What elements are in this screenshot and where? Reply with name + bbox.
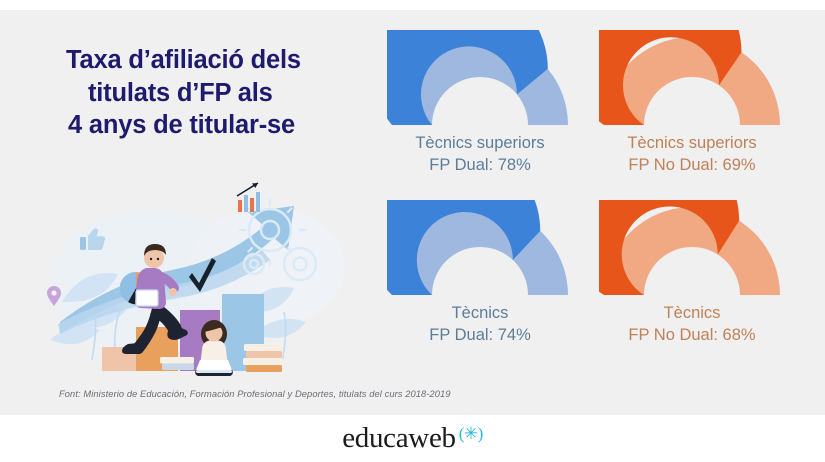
logo-wordmark: educaweb	[342, 422, 456, 455]
footer: educaweb (✳)	[0, 415, 825, 462]
gauge-label-1-line2: FP No Dual: 69%	[592, 155, 792, 177]
gauge-tecnics-superiors-fp-dual: Tècnics superiors FP Dual: 78%	[380, 30, 580, 205]
source-note: Font: Ministerio de Educación, Formación…	[59, 389, 451, 399]
title-line-1: Taxa d’afiliació dels	[66, 44, 366, 77]
gauge-arc-0	[387, 30, 573, 130]
gauge-tecnics-fp-no-dual: Tècnics FP No Dual: 68%	[592, 200, 792, 375]
gauge-label-3-line1: Tècnics	[592, 303, 792, 325]
gauge-arc-1	[599, 30, 785, 130]
gauge-label-0: Tècnics superiors FP Dual: 78%	[380, 133, 580, 177]
title-line-3: 4 anys de titular-se	[66, 109, 366, 142]
page-title: Taxa d’afiliació dels titulats d’FP als …	[66, 44, 366, 142]
gauge-label-0-line1: Tècnics superiors	[380, 133, 580, 155]
career-growth-illustration	[32, 172, 362, 380]
gauge-label-0-line2: FP Dual: 78%	[380, 155, 580, 177]
gauge-label-1: Tècnics superiors FP No Dual: 69%	[592, 133, 792, 177]
gauge-label-2: Tècnics FP Dual: 74%	[380, 303, 580, 347]
asterisk-icon: (✳)	[459, 424, 483, 444]
gauge-chart-grid: Tècnics superiors FP Dual: 78% Tècnics s…	[380, 30, 800, 380]
gauge-label-2-line2: FP Dual: 74%	[380, 325, 580, 347]
infographic-root: Taxa d’afiliació dels titulats d’FP als …	[0, 0, 825, 462]
gauge-label-2-line1: Tècnics	[380, 303, 580, 325]
gauge-label-3-line2: FP No Dual: 68%	[592, 325, 792, 347]
title-line-2: titulats d’FP als	[66, 77, 366, 110]
gauge-label-1-line1: Tècnics superiors	[592, 133, 792, 155]
gauge-tecnics-fp-dual: Tècnics FP Dual: 74%	[380, 200, 580, 375]
gauge-label-3: Tècnics FP No Dual: 68%	[592, 303, 792, 347]
gauge-arc-3	[599, 200, 785, 300]
gauge-tecnics-superiors-fp-no-dual: Tècnics superiors FP No Dual: 69%	[592, 30, 792, 205]
gauge-arc-2	[387, 200, 573, 300]
educaweb-logo[interactable]: educaweb (✳)	[0, 415, 825, 462]
